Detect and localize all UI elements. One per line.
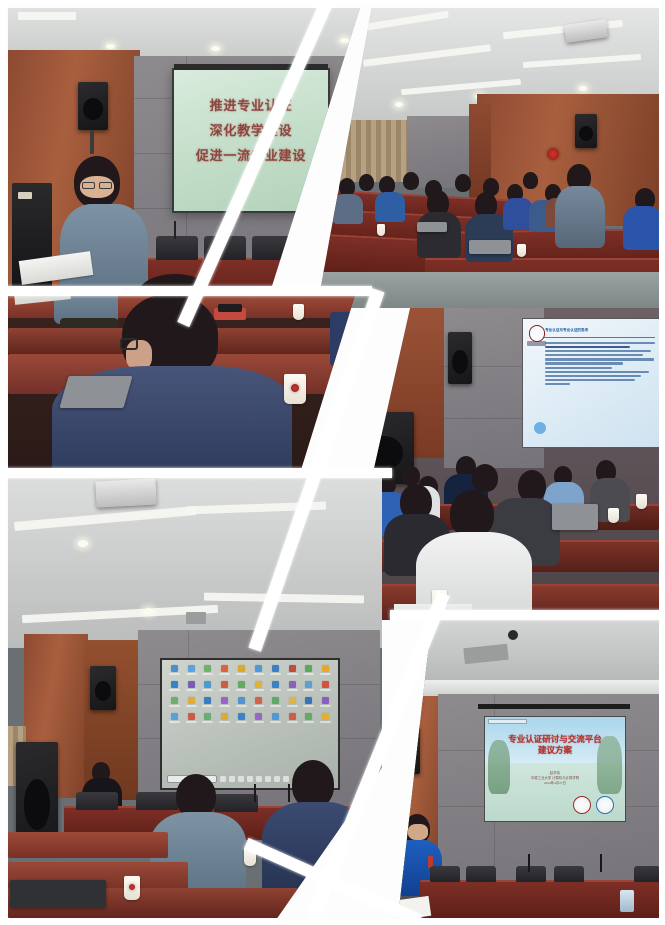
slide-toolbar-overlay: [488, 719, 527, 724]
desktop-icon-label: [169, 673, 180, 675]
desktop-icon[interactable]: [252, 697, 266, 711]
desktop-icon[interactable]: [268, 665, 282, 679]
desktop-icon-glyph: [188, 697, 195, 704]
paper-cup: [517, 244, 526, 257]
desktop-icon-label: [270, 673, 281, 675]
university-seal-icon: [573, 796, 591, 814]
ceiling-vent: [186, 612, 206, 624]
desktop-icon-glyph: [322, 681, 329, 688]
desktop-icon[interactable]: [218, 697, 232, 711]
taskbar-icon[interactable]: [229, 776, 235, 782]
title-line-1: 专业认证研讨与交流平台: [493, 734, 616, 745]
presenter-face: [408, 824, 428, 840]
desktop-icon-glyph: [272, 665, 279, 672]
taskbar-icon[interactable]: [247, 776, 253, 782]
taskbar-icon[interactable]: [283, 776, 289, 782]
wall-speaker-icon: [90, 666, 116, 710]
slide-text-line: [545, 383, 570, 385]
desktop-icon-glyph: [272, 681, 279, 688]
desktop-icon-glyph: [305, 713, 312, 720]
desktop-icon-glyph: [171, 697, 178, 704]
desktop-icon[interactable]: [218, 665, 232, 679]
desktop-icon-label: [253, 689, 264, 691]
desktop-icon-label: [303, 673, 314, 675]
desktop-icon[interactable]: [302, 665, 316, 679]
desktop-icon[interactable]: [285, 697, 299, 711]
desktop-icon-glyph: [255, 665, 262, 672]
desktop-icon-glyph: [238, 713, 245, 720]
microphone-icon: [600, 854, 602, 872]
desktop-icon[interactable]: [268, 713, 282, 727]
desktop-icon-label: [320, 705, 331, 707]
university-logo: [529, 325, 546, 342]
desktop-icon-label: [287, 721, 298, 723]
downlight: [106, 44, 115, 49]
desktop-icon[interactable]: [201, 697, 215, 711]
desktop-icon-glyph: [204, 665, 211, 672]
desktop-icon-label: [186, 705, 197, 707]
desktop-icon-glyph: [255, 681, 262, 688]
desktop-icon-label: [202, 721, 213, 723]
desktop-icon-glyph: [289, 665, 296, 672]
screen-roller: [478, 704, 630, 709]
desktop-icon-label: [303, 705, 314, 707]
title-slide: 专业认证研讨与交流平台 建议方案 赵学伟 中原工业大学 计算机与计算学院 202…: [484, 716, 626, 822]
microphone-icon: [288, 784, 290, 802]
desktop-icon[interactable]: [201, 681, 215, 695]
desktop-icon-glyph: [221, 713, 228, 720]
slide-text-line: [545, 375, 641, 377]
desktop-icon-label: [253, 673, 264, 675]
desktop-icon-glyph: [188, 713, 195, 720]
panel-top-right-scene: [317, 8, 659, 308]
desktop-icon-label: [320, 689, 331, 691]
cabinet-label: [18, 192, 32, 199]
desktop-icon-label: [219, 705, 230, 707]
downlight: [211, 46, 220, 51]
title-slide-subtitle: 赵学伟 中原工业大学 计算机与计算学院 2024年4月27日: [499, 771, 611, 786]
desktop-icon[interactable]: [319, 713, 333, 727]
downlight: [78, 540, 88, 547]
panel-bottom-right: 专业认证研讨与交流平台 建议方案 赵学伟 中原工业大学 计算机与计算学院 202…: [398, 618, 659, 918]
desktop-icon-glyph: [188, 665, 195, 672]
microphone-icon: [528, 854, 530, 872]
desktop-icon[interactable]: [235, 665, 249, 679]
microphone-icon: [294, 221, 296, 239]
desktop-icon-glyph: [238, 681, 245, 688]
desktop-icon-glyph: [272, 697, 279, 704]
slide-text-line: [545, 342, 655, 344]
desktop-icon-label: [186, 721, 197, 723]
subtitle-line-3: 2024年4月27日: [499, 781, 611, 786]
screen-text-line-1: 推进专业认证: [174, 97, 328, 116]
attendee-torso: [623, 206, 659, 250]
slide-title: 专业认证与专业认证的思考: [545, 328, 655, 333]
slide-text-line: [545, 362, 623, 364]
chair: [252, 236, 294, 260]
slide-text-line: [545, 346, 630, 348]
desktop-icon-glyph: [289, 697, 296, 704]
desktop-icon[interactable]: [235, 697, 249, 711]
desktop-icon-glyph: [305, 665, 312, 672]
desktop-icon[interactable]: [302, 713, 316, 727]
desktop-icon-glyph: [289, 713, 296, 720]
collage-seam-horizontal-lower: [0, 468, 392, 478]
chair: [430, 866, 460, 882]
desktop-icon-label: [303, 721, 314, 723]
chair: [156, 236, 198, 260]
smartphone: [218, 304, 242, 312]
attendee-head: [402, 466, 420, 486]
cup-logo: [129, 884, 135, 890]
desktop-icon-glyph: [221, 697, 228, 704]
slide-text-line: [545, 358, 653, 360]
panel-bottom-left: [8, 476, 382, 918]
attendee-head: [472, 464, 498, 492]
wall-emblem: [547, 148, 559, 160]
desktop-icon-glyph: [322, 713, 329, 720]
desktop-icon-glyph: [188, 681, 195, 688]
desktop-icon-label: [236, 705, 247, 707]
laptop: [10, 880, 106, 908]
slide-body: [545, 342, 657, 424]
ceiling-light: [18, 12, 76, 20]
desktop-icon-label: [236, 689, 247, 691]
desktop-icon-label: [287, 705, 298, 707]
title-slide-heading: 专业认证研讨与交流平台 建议方案: [493, 734, 616, 757]
desktop-icon-label: [270, 689, 281, 691]
glasses-icon: [99, 182, 112, 189]
projection-screen: 推进专业认证 深化教学建设 促进一流专业建设: [172, 68, 330, 213]
taskbar-icon[interactable]: [265, 776, 271, 782]
attendee-torso: [375, 192, 405, 222]
desktop-icon[interactable]: [167, 665, 181, 679]
desktop-icon[interactable]: [218, 713, 232, 727]
slide-text-line: [545, 371, 649, 373]
desktop-icon-glyph: [221, 665, 228, 672]
desktop-icon-glyph: [171, 713, 178, 720]
desktop-icon-glyph: [238, 665, 245, 672]
panel-bottom-right-scene: 专业认证研讨与交流平台 建议方案 赵学伟 中原工业大学 计算机与计算学院 202…: [398, 618, 659, 918]
chair: [76, 792, 118, 810]
ceiling-camera-icon: [508, 630, 518, 640]
university-name-text: [527, 341, 546, 346]
chair: [136, 792, 178, 810]
desktop-icon-glyph: [305, 681, 312, 688]
desktop-icon[interactable]: [201, 713, 215, 727]
desktop-icon-label: [202, 689, 213, 691]
desktop-icon-label: [236, 673, 247, 675]
desktop-icon-glyph: [289, 681, 296, 688]
desktop-icon-glyph: [171, 665, 178, 672]
desktop-icon-glyph: [204, 713, 211, 720]
chair: [516, 866, 546, 882]
desktop-icon-label: [202, 673, 213, 675]
attendee-head: [403, 172, 419, 190]
desktop-icon-label: [219, 721, 230, 723]
downlight: [395, 102, 403, 107]
desktop-icon-glyph: [238, 697, 245, 704]
attendee-torso: [362, 816, 382, 880]
slide-text-line: [545, 354, 643, 356]
attendee-head: [450, 490, 494, 538]
presentation-slide: 专业认证与专业认证的思考: [522, 318, 659, 448]
desktop-icon[interactable]: [184, 713, 198, 727]
chair: [466, 866, 496, 882]
downlight: [579, 86, 587, 91]
wall-speaker-icon: [575, 114, 597, 148]
desktop-icon[interactable]: [302, 681, 316, 695]
desktop-icon-label: [320, 721, 331, 723]
glasses-icon: [82, 182, 95, 189]
paper-cup: [608, 508, 619, 523]
desktop-icon-glyph: [255, 713, 262, 720]
chair: [554, 866, 584, 882]
photo-collage: 推进专业认证 深化教学建设 促进一流专业建设: [0, 0, 665, 925]
screen-text-line-2: 深化教学建设: [174, 122, 328, 141]
desktop-icon-glyph: [204, 681, 211, 688]
laptop: [417, 222, 447, 232]
attendee-head: [455, 174, 471, 192]
association-seal-icon: [596, 796, 614, 814]
chair: [214, 794, 258, 812]
desktop-icon[interactable]: [167, 697, 181, 711]
desktop-icon[interactable]: [235, 713, 249, 727]
desktop-icon[interactable]: [285, 713, 299, 727]
desktop-icon-glyph: [272, 713, 279, 720]
microphone-icon: [254, 784, 256, 802]
desktop-icon-glyph: [204, 697, 211, 704]
desktop-icon-label: [287, 673, 298, 675]
desktop-icon[interactable]: [167, 681, 181, 695]
desktop-icon-label: [169, 689, 180, 691]
laptop: [552, 504, 598, 530]
desktop-icon-label: [219, 673, 230, 675]
desktop-icon-glyph: [305, 697, 312, 704]
desk-surface: [8, 832, 168, 858]
desktop-icon-grid[interactable]: [167, 665, 332, 773]
desktop-icon[interactable]: [184, 665, 198, 679]
desktop-icon[interactable]: [319, 697, 333, 711]
desktop-icon-label: [186, 689, 197, 691]
water-bottle: [620, 890, 634, 912]
presenter-torso: [555, 186, 605, 248]
attendee-torso: [417, 212, 461, 258]
wall-speaker-icon: [398, 726, 420, 774]
desktop-icon[interactable]: [252, 713, 266, 727]
attendee-head: [523, 172, 538, 189]
desktop-icon[interactable]: [319, 681, 333, 695]
desktop-icon[interactable]: [319, 665, 333, 679]
equipment-cabinet: [12, 183, 52, 303]
desktop-icon-label: [253, 721, 264, 723]
desktop-icon-glyph: [221, 681, 228, 688]
desktop-icon[interactable]: [184, 697, 198, 711]
glasses-icon: [120, 338, 138, 350]
desktop-icon-label: [287, 689, 298, 691]
slide-text-line: [545, 367, 612, 369]
desktop-icon-label: [219, 689, 230, 691]
desktop-icon[interactable]: [285, 681, 299, 695]
desktop-icon-label: [253, 705, 264, 707]
ceiling-projector: [95, 478, 156, 507]
desktop-icon[interactable]: [218, 681, 232, 695]
attendee-head: [292, 760, 334, 808]
downlight: [340, 38, 349, 43]
desktop-icon-label: [303, 689, 314, 691]
desktop-icon[interactable]: [268, 681, 282, 695]
slide-text-line: [545, 350, 651, 352]
desktop-icon[interactable]: [184, 681, 198, 695]
desktop-icon-glyph: [171, 681, 178, 688]
wall-speaker-icon: [78, 82, 108, 130]
desktop-icon-glyph: [255, 697, 262, 704]
desktop-icon-label: [270, 721, 281, 723]
desktop-icon-glyph: [322, 697, 329, 704]
desktop-icon[interactable]: [252, 665, 266, 679]
desktop-icon[interactable]: [268, 697, 282, 711]
paper-cup: [636, 494, 647, 509]
taskbar-icon[interactable]: [238, 776, 244, 782]
speaker-mount: [90, 130, 94, 154]
window-curtain: [331, 120, 409, 182]
panel-top-right: [317, 8, 659, 308]
microphone-icon: [174, 221, 176, 239]
title-line-2: 建议方案: [493, 745, 616, 756]
desktop-icon-label: [236, 721, 247, 723]
desktop-icon-label: [202, 705, 213, 707]
taskbar-icon[interactable]: [220, 776, 226, 782]
downlight: [144, 608, 153, 614]
slide-title-underline: [544, 337, 656, 338]
wall-speaker-icon: [448, 332, 472, 384]
desktop-icon[interactable]: [252, 681, 266, 695]
paper-cup: [293, 304, 304, 320]
desktop-icon-label: [320, 673, 331, 675]
taskbar-icon[interactable]: [256, 776, 262, 782]
desktop-icon-label: [169, 721, 180, 723]
desktop-icon[interactable]: [167, 713, 181, 727]
desktop-icon-label: [270, 705, 281, 707]
desktop-icon-label: [169, 705, 180, 707]
laptop: [469, 240, 511, 254]
laptop: [59, 376, 132, 408]
chair: [634, 866, 659, 882]
collage-seam-horizontal-upper: [0, 286, 372, 296]
paper-cup: [377, 224, 385, 236]
cup-logo: [291, 384, 299, 392]
desktop-icon[interactable]: [235, 681, 249, 695]
slide-text-line: [545, 379, 634, 381]
desktop-icon[interactable]: [302, 697, 316, 711]
desktop-icon-glyph: [322, 665, 329, 672]
collage-seam-horizontal-bottom-right: [390, 610, 665, 620]
attendee-torso: [333, 194, 363, 224]
desktop-icon[interactable]: [285, 665, 299, 679]
desktop-icon[interactable]: [201, 665, 215, 679]
desktop-icon-label: [186, 673, 197, 675]
panel-middle-right: 专业认证与专业认证的思考: [340, 308, 659, 620]
attendee-head: [359, 174, 374, 191]
slide-bullet-dot: [534, 422, 546, 434]
taskbar-icon[interactable]: [274, 776, 280, 782]
panel-middle-right-scene: 专业认证与专业认证的思考: [340, 308, 659, 620]
panel-bottom-left-scene: [8, 476, 382, 918]
